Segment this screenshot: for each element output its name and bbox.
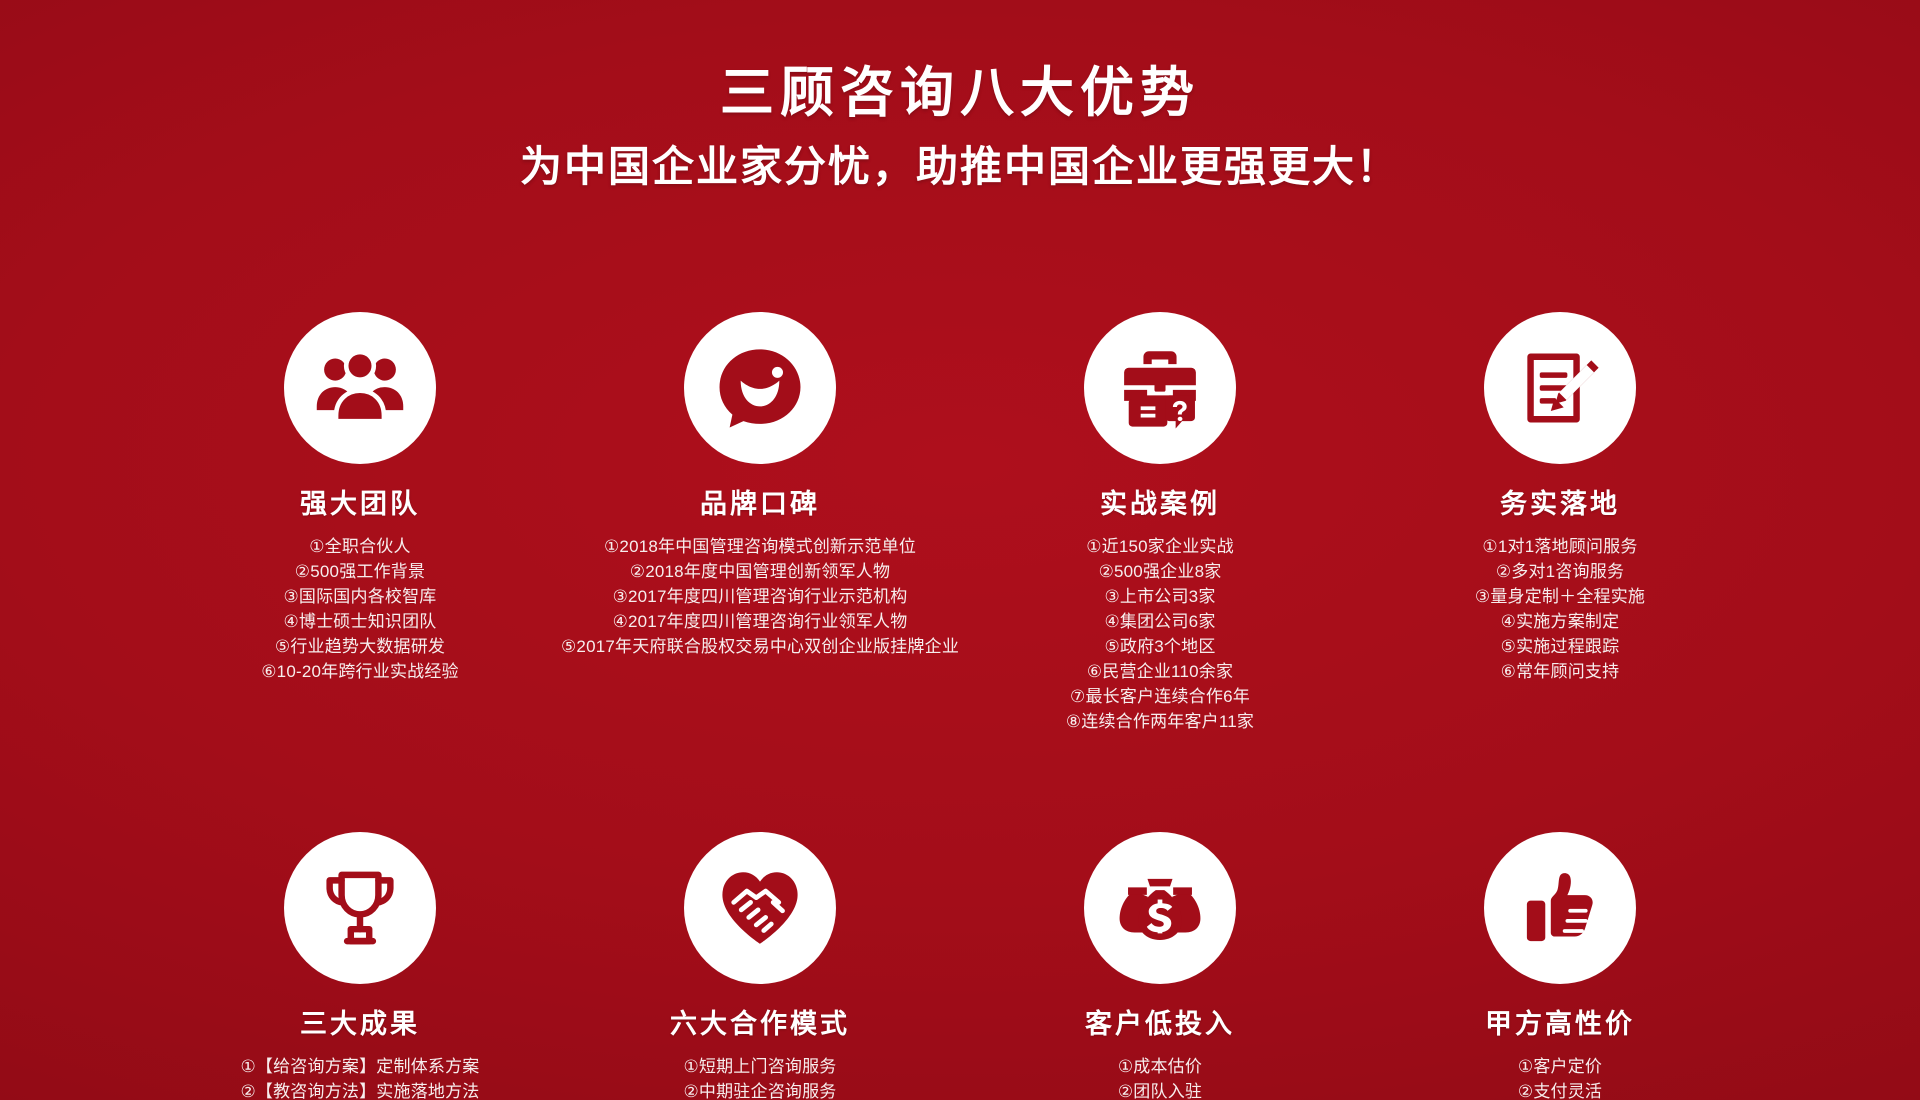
list-item: ⑥民营企业110余家 [1066,659,1254,684]
page-title: 三顾咨询八大优势 [0,62,1920,124]
advantage-card-list: ①【给咨询方案】定制体系方案 ②【教咨询方法】实施落地方法 ③【成知识产权】全面… [240,1054,479,1100]
advantage-card-list: ①客户定价 ②支付灵活 ③按效付费 [1518,1054,1602,1100]
poster-root: 三顾咨询八大优势 为中国企业家分忧，助推中国企业更强更大！ [0,0,1920,1100]
handshake-heart-icon [684,832,836,984]
advantage-card-brand: 品牌口碑 ①2018年中国管理咨询模式创新示范单位 ②2018年度中国管理创新领… [560,312,960,659]
advantage-card-low-cost: 客户低投入 ①成本估价 ②团队入驻 ③集中时效 ④常年三方总助性价比高 [960,832,1360,1100]
advantage-card-title: 强大团队 [300,482,420,521]
list-item: ⑤政府3个地区 [1066,634,1254,659]
advantage-card-title: 品牌口碑 [700,482,820,521]
advantage-card-list: ①1对1落地顾问服务 ②多对1咨询服务 ③量身定制＋全程实施 ④实施方案制定 ⑤… [1475,534,1645,684]
list-item: ④集团公司6家 [1066,609,1254,634]
advantage-row-1: 强大团队 ①全职合伙人 ②500强工作背景 ③国际国内各校智库 ④博士硕士知识团… [0,312,1920,734]
advantage-card-execution: 务实落地 ①1对1落地顾问服务 ②多对1咨询服务 ③量身定制＋全程实施 ④实施方… [1360,312,1760,684]
clipboard-pen-icon [1484,312,1636,464]
advantage-card-title: 客户低投入 [1085,1002,1235,1041]
page-subtitle: 为中国企业家分忧，助推中国企业更强更大！ [0,142,1920,192]
list-item: ②支付灵活 [1518,1079,1602,1100]
list-item: ②中期驻企咨询服务 [683,1079,836,1100]
list-item: ④2017年度四川管理咨询行业领军人物 [561,609,959,634]
advantage-card-list: ①成本估价 ②团队入驻 ③集中时效 ④常年三方总助性价比高 [1066,1054,1253,1100]
list-item: ①1对1落地顾问服务 [1475,534,1645,559]
advantage-grid: 强大团队 ①全职合伙人 ②500强工作背景 ③国际国内各校智库 ④博士硕士知识团… [0,312,1920,1100]
advantage-card-title: 甲方高性价 [1485,1002,1635,1041]
list-item: ②多对1咨询服务 [1475,559,1645,584]
advantage-card-title: 实战案例 [1100,482,1220,521]
thumbs-up-icon [1484,832,1636,984]
list-item: ②500强企业8家 [1066,559,1254,584]
list-item: ①2018年中国管理咨询模式创新示范单位 [561,534,959,559]
advantage-card-cooperation: 六大合作模式 ①短期上门咨询服务 ②中期驻企咨询服务 ③长期顾问服务 ④业绩式顾… [560,832,960,1100]
list-item: ①全职合伙人 [261,534,459,559]
advantage-card-title: 三大成果 [300,1002,420,1041]
list-item: ②【教咨询方法】实施落地方法 [240,1079,479,1100]
advantage-card-list: ①全职合伙人 ②500强工作背景 ③国际国内各校智库 ④博士硕士知识团队 ⑤行业… [261,534,459,684]
list-item: ⑦最长客户连续合作6年 [1066,684,1254,709]
list-item: ⑤行业趋势大数据研发 [261,634,459,659]
briefcase-case-study-icon [1084,312,1236,464]
advantage-card-list: ①短期上门咨询服务 ②中期驻企咨询服务 ③长期顾问服务 ④业绩式顾问服务 ⑤分红… [683,1054,836,1100]
advantage-card-value: 甲方高性价 ①客户定价 ②支付灵活 ③按效付费 [1360,832,1760,1100]
list-item: ⑥10-20年跨行业实战经验 [261,659,459,684]
list-item: ④博士硕士知识团队 [261,609,459,634]
list-item: ⑥常年顾问支持 [1475,659,1645,684]
list-item: ⑤2017年天府联合股权交易中心双创企业版挂牌企业 [561,634,959,659]
list-item: ①短期上门咨询服务 [683,1054,836,1079]
list-item: ②2018年度中国管理创新领军人物 [561,559,959,584]
advantage-row-2: 三大成果 ①【给咨询方案】定制体系方案 ②【教咨询方法】实施落地方法 ③【成知识… [0,832,1920,1100]
list-item: ③2017年度四川管理咨询行业示范机构 [561,584,959,609]
advantage-card-cases: 实战案例 ①近150家企业实战 ②500强企业8家 ③上市公司3家 ④集团公司6… [960,312,1360,734]
advantage-card-title: 六大合作模式 [670,1002,850,1041]
trophy-icon [284,832,436,984]
list-item: ①客户定价 [1518,1054,1602,1079]
list-item: ②500强工作背景 [261,559,459,584]
list-item: ③国际国内各校智库 [261,584,459,609]
list-item: ①近150家企业实战 [1066,534,1254,559]
list-item: ③上市公司3家 [1066,584,1254,609]
smile-face-icon [684,312,836,464]
money-bags-icon [1084,832,1236,984]
list-item: ⑧连续合作两年客户11家 [1066,709,1254,734]
advantage-card-team: 强大团队 ①全职合伙人 ②500强工作背景 ③国际国内各校智库 ④博士硕士知识团… [160,312,560,684]
advantage-card-results: 三大成果 ①【给咨询方案】定制体系方案 ②【教咨询方法】实施落地方法 ③【成知识… [160,832,560,1100]
team-people-icon [284,312,436,464]
advantage-card-title: 务实落地 [1500,482,1620,521]
advantage-card-list: ①2018年中国管理咨询模式创新示范单位 ②2018年度中国管理创新领军人物 ③… [561,534,959,659]
poster-header: 三顾咨询八大优势 为中国企业家分忧，助推中国企业更强更大！ [0,0,1920,192]
list-item: ①【给咨询方案】定制体系方案 [240,1054,479,1079]
list-item: ⑤实施过程跟踪 [1475,634,1645,659]
list-item: ①成本估价 [1066,1054,1253,1079]
list-item: ④实施方案制定 [1475,609,1645,634]
list-item: ③量身定制＋全程实施 [1475,584,1645,609]
list-item: ②团队入驻 [1066,1079,1253,1100]
advantage-card-list: ①近150家企业实战 ②500强企业8家 ③上市公司3家 ④集团公司6家 ⑤政府… [1066,534,1254,734]
